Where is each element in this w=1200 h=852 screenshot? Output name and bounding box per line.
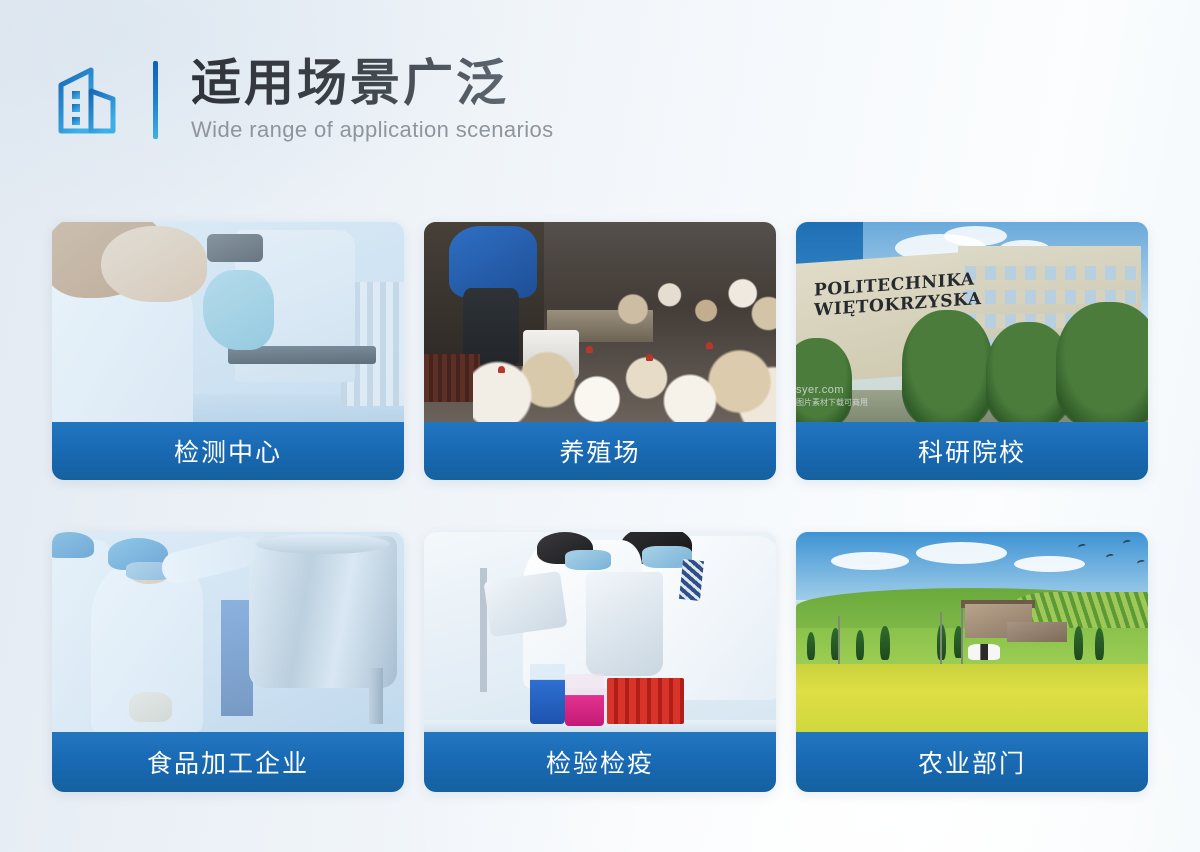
scenario-card-food-processing[interactable]: 食品加工企业 — [52, 532, 404, 792]
building-icon — [57, 65, 119, 135]
card-label: 检验检疫 — [546, 744, 654, 780]
scenario-card-breeding-farm[interactable]: 养殖场 — [424, 222, 776, 480]
card-caption-bar: 食品加工企业 — [52, 732, 404, 792]
card-label: 检测中心 — [174, 433, 282, 469]
card-label: 农业部门 — [918, 744, 1026, 780]
scenario-card-research-institute[interactable]: POLITECHNIKAWIĘTOKRZYSKA syer.com图片素材下载可… — [796, 222, 1148, 480]
card-image-agriculture-dept — [796, 532, 1148, 732]
card-caption-bar: 检测中心 — [52, 422, 404, 480]
card-label: 养殖场 — [559, 433, 640, 469]
card-image-detection-center — [52, 222, 404, 422]
card-caption-bar: 检验检疫 — [424, 732, 776, 792]
scenario-card-agriculture-dept[interactable]: 农业部门 — [796, 532, 1148, 792]
scenario-card-inspection-quarantine[interactable]: 检验检疫 — [424, 532, 776, 792]
image-watermark: syer.com图片素材下载可商用 — [796, 384, 868, 408]
header-accent-bar — [153, 61, 158, 139]
section-header: 适用场景广泛 Wide range of application scenari… — [57, 56, 554, 143]
card-caption-bar: 农业部门 — [796, 732, 1148, 792]
card-image-food-processing — [52, 532, 404, 732]
card-label: 科研院校 — [918, 433, 1026, 469]
card-image-breeding-farm — [424, 222, 776, 422]
scenario-card-detection-center[interactable]: 检测中心 — [52, 222, 404, 480]
card-caption-bar: 科研院校 — [796, 422, 1148, 480]
card-caption-bar: 养殖场 — [424, 422, 776, 480]
scenario-card-grid: 检测中心 养殖场 — [52, 222, 1148, 792]
card-image-research-institute: POLITECHNIKAWIĘTOKRZYSKA syer.com图片素材下载可… — [796, 222, 1148, 422]
page-title: 适用场景广泛 — [191, 56, 554, 110]
page-subtitle: Wide range of application scenarios — [191, 117, 554, 143]
card-label: 食品加工企业 — [147, 744, 309, 780]
card-image-inspection-quarantine — [424, 532, 776, 732]
